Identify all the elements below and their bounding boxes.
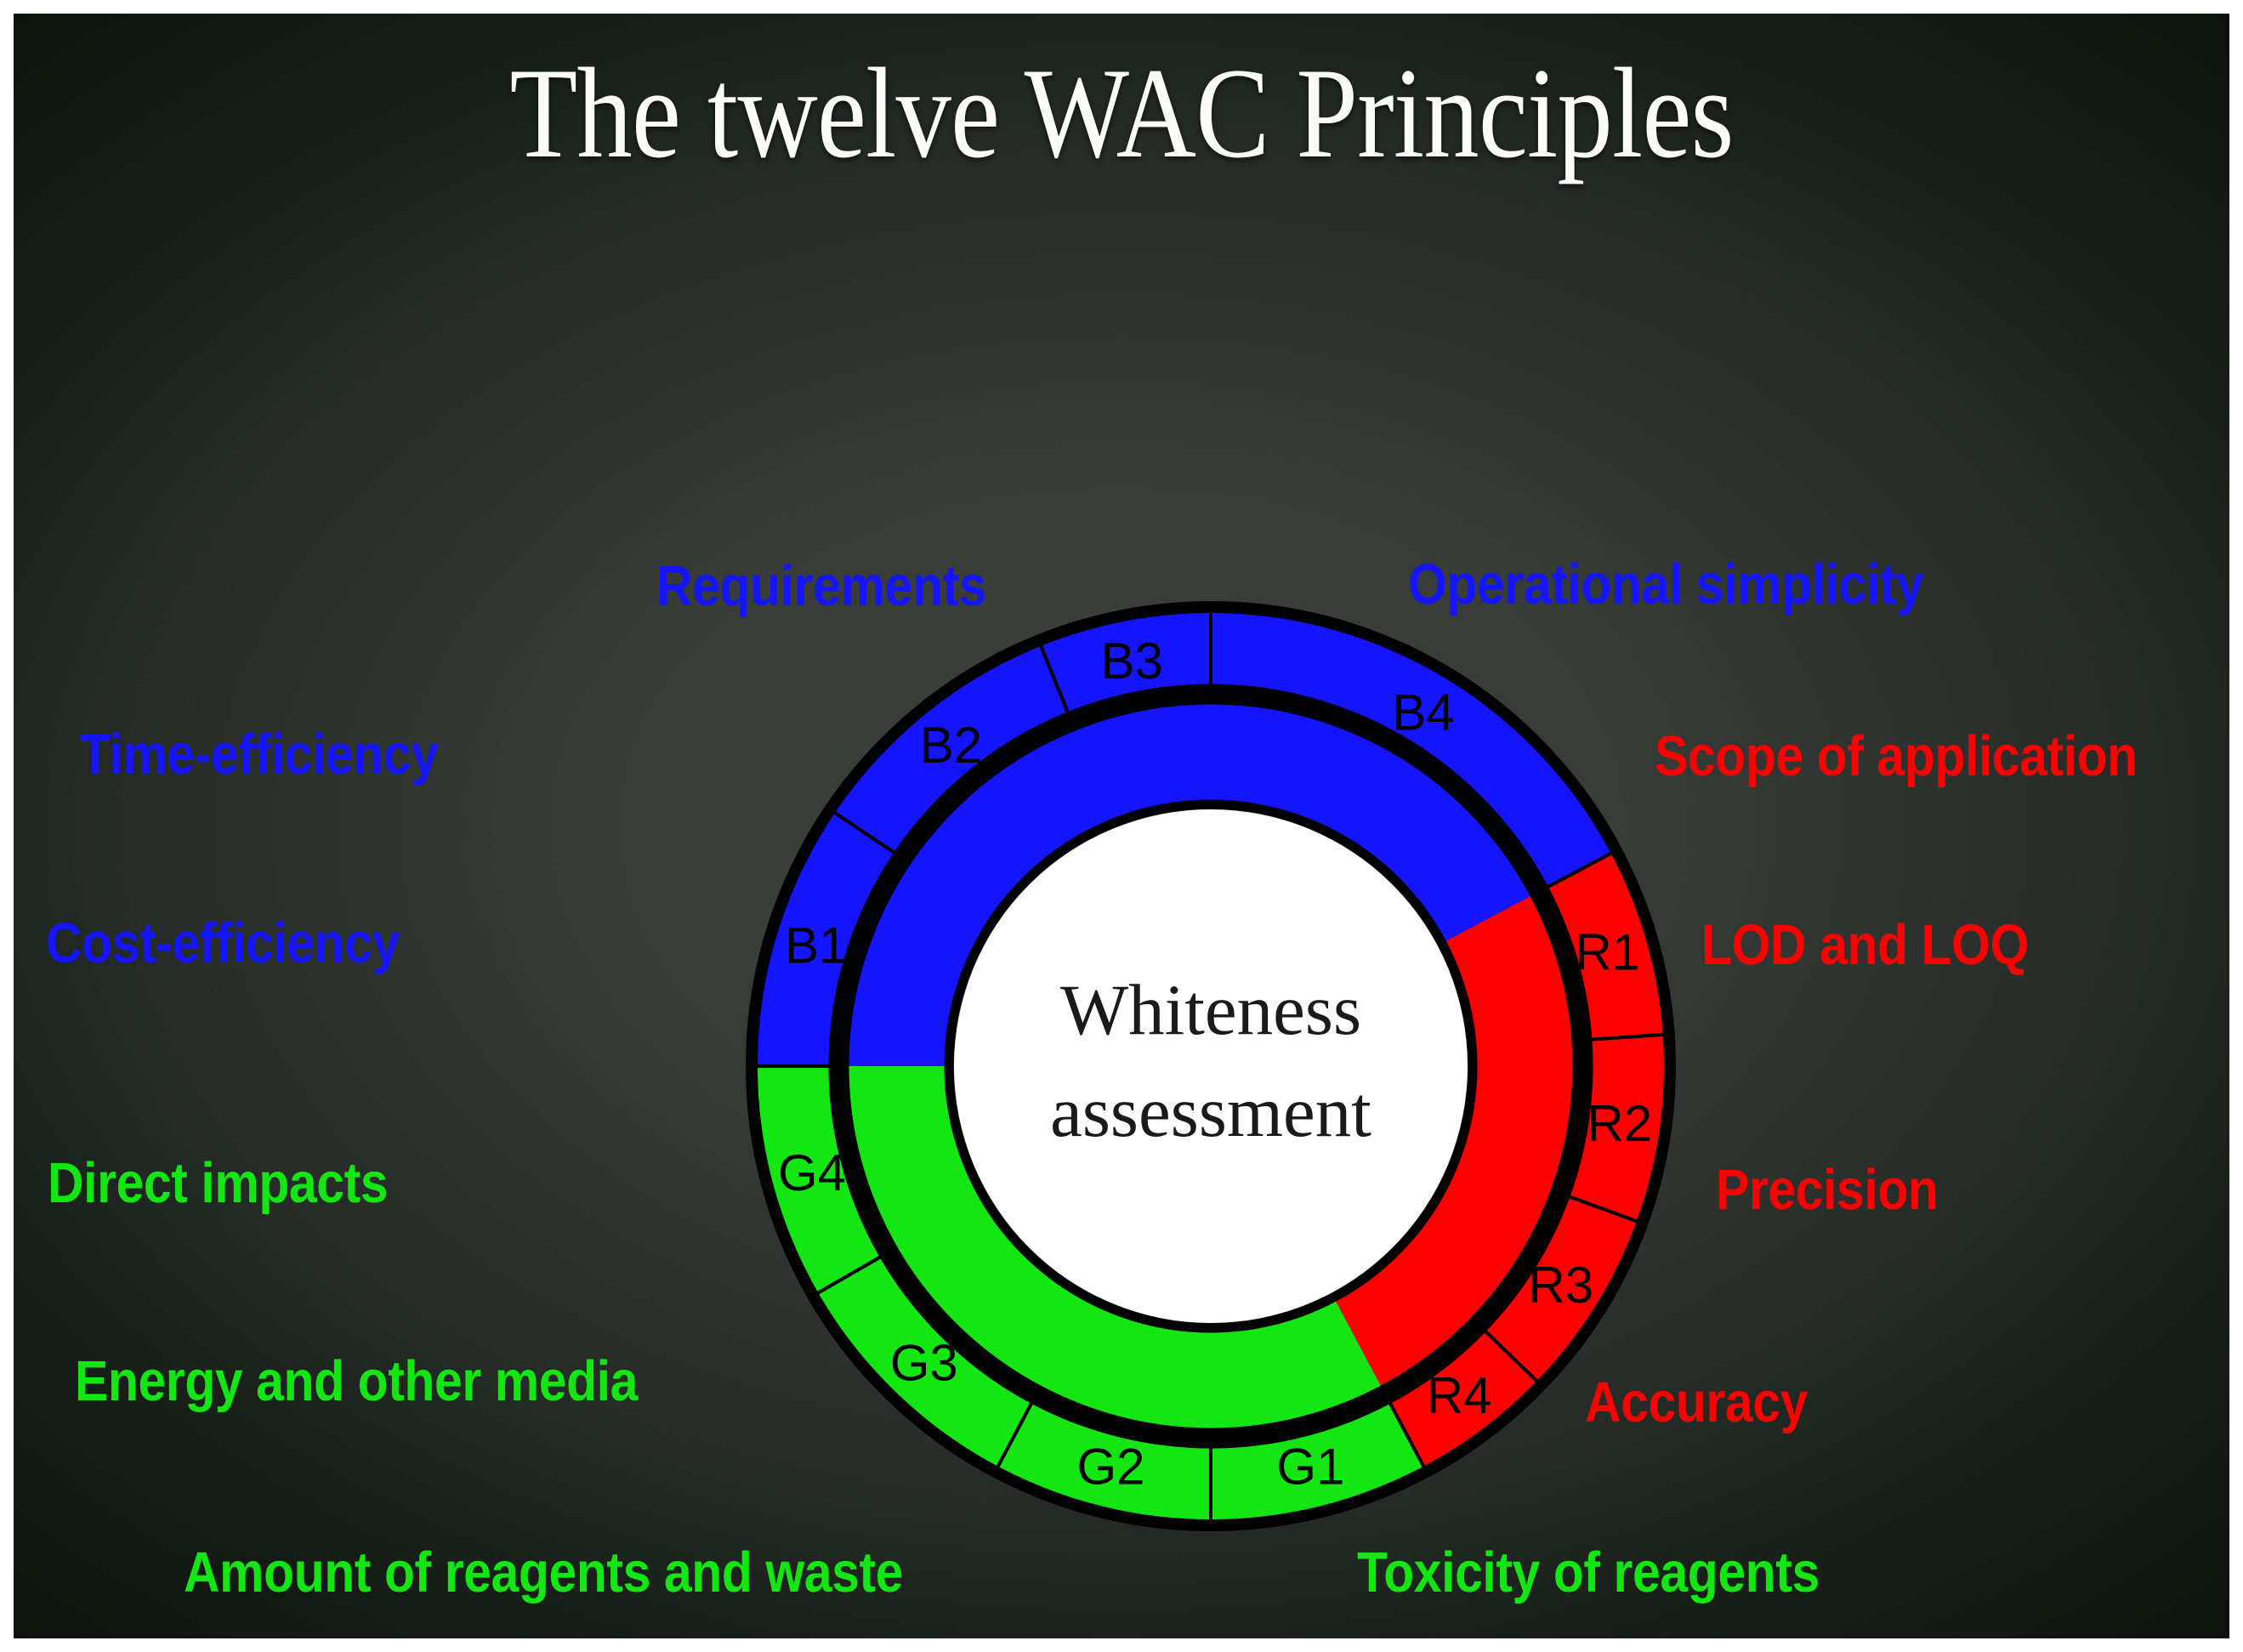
segment-code-r4: R4 — [1427, 1367, 1492, 1424]
label-lod-and-loq: LOD and LOQ — [1701, 917, 2029, 974]
segment-code-g4: G4 — [778, 1144, 846, 1201]
label-amount-of-reagents-and-waste: Amount of reagents and waste — [184, 1544, 903, 1601]
label-toxicity-of-reagents: Toxicity of reagents — [1357, 1544, 1820, 1601]
label-accuracy: Accuracy — [1585, 1374, 1808, 1431]
segment-code-b3: B3 — [1101, 633, 1163, 690]
label-requirements: Requirements — [619, 558, 1023, 615]
segment-code-b1: B1 — [785, 917, 847, 974]
poster-canvas: The twelve WAC Principles B1B2B3B4R1R2R3… — [0, 0, 2243, 1652]
segment-code-r1: R1 — [1575, 924, 1640, 981]
segment-code-g3: G3 — [890, 1335, 958, 1392]
label-cost-efficiency: Cost-efficiency — [46, 915, 400, 972]
segment-code-b2: B2 — [920, 717, 982, 774]
segment-code-r2: R2 — [1587, 1095, 1652, 1152]
label-scope-of-application: Scope of application — [1655, 728, 2138, 785]
label-time-efficiency: Time-efficiency — [80, 726, 439, 783]
segment-code-g1: G1 — [1276, 1439, 1344, 1496]
center-line-1: Whiteness — [1060, 970, 1361, 1050]
segment-code-g2: G2 — [1077, 1439, 1145, 1496]
label-operational-simplicity: Operational simplicity — [1408, 556, 1923, 613]
label-direct-impacts: Direct impacts — [48, 1155, 388, 1212]
label-energy-and-other-media: Energy and other media — [75, 1353, 638, 1410]
segment-code-b4: B4 — [1392, 684, 1454, 741]
segment-code-r3: R3 — [1528, 1257, 1593, 1314]
label-precision: Precision — [1716, 1161, 1938, 1218]
center-line-2: assessment — [1050, 1072, 1371, 1152]
center-disc — [954, 809, 1468, 1323]
